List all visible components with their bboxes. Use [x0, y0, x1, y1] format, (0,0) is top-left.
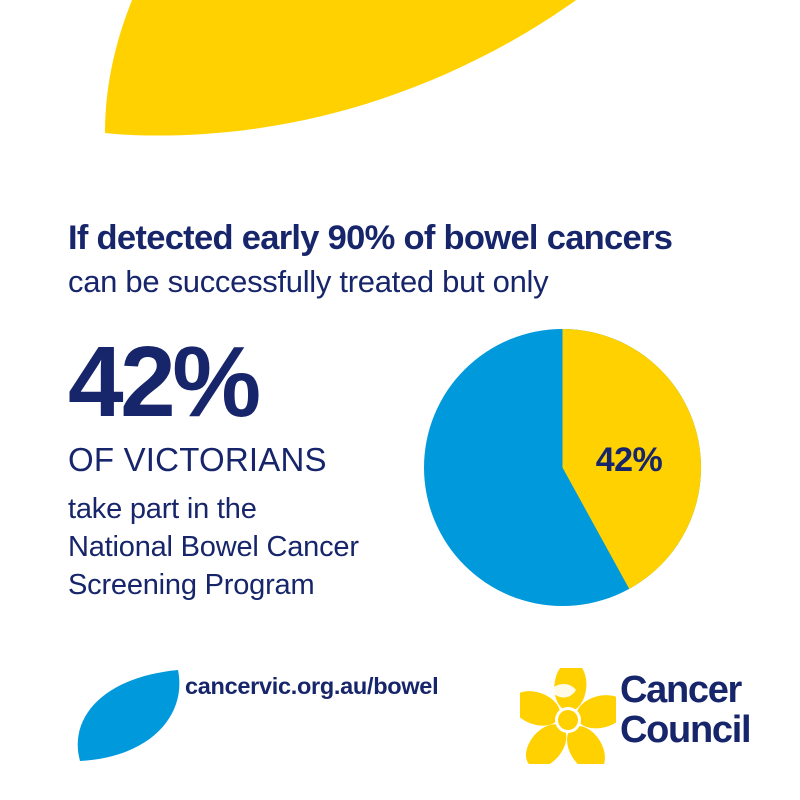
infographic-poster: If detected early 90% of bowel cancers c… — [0, 0, 800, 800]
logo-word-line-2: Council — [620, 710, 750, 750]
headline: If detected early 90% of bowel cancers c… — [68, 216, 768, 304]
headline-line-1: If detected early 90% of bowel cancers — [68, 216, 768, 260]
logo-word-line-1: Cancer — [620, 670, 750, 710]
pie-chart: 42% — [424, 329, 701, 606]
website-url[interactable]: cancervic.org.au/bowel — [185, 673, 438, 700]
statistic-body-line-3: Screening Program — [68, 566, 408, 604]
pie-slice-value-label: 42% — [424, 441, 701, 480]
statistic-body-line-2: National Bowel Cancer — [68, 528, 408, 566]
statistic-body-line-1: take part in the — [68, 490, 408, 528]
statistic-block: 42% OF VICTORIANS take part in the Natio… — [68, 330, 408, 604]
decorative-blue-leaf-icon — [74, 665, 184, 769]
cancer-council-logo[interactable]: Cancer Council — [520, 666, 760, 766]
statistic-body: take part in the National Bowel Cancer S… — [68, 490, 408, 604]
decorative-yellow-leaf-icon — [0, 0, 800, 160]
statistic-caption: OF VICTORIANS — [68, 440, 408, 480]
daffodil-flower-icon — [520, 668, 616, 764]
cancer-council-wordmark: Cancer Council — [620, 670, 750, 750]
headline-line-2: can be successfully treated but only — [68, 260, 768, 304]
statistic-number: 42% — [68, 330, 408, 434]
